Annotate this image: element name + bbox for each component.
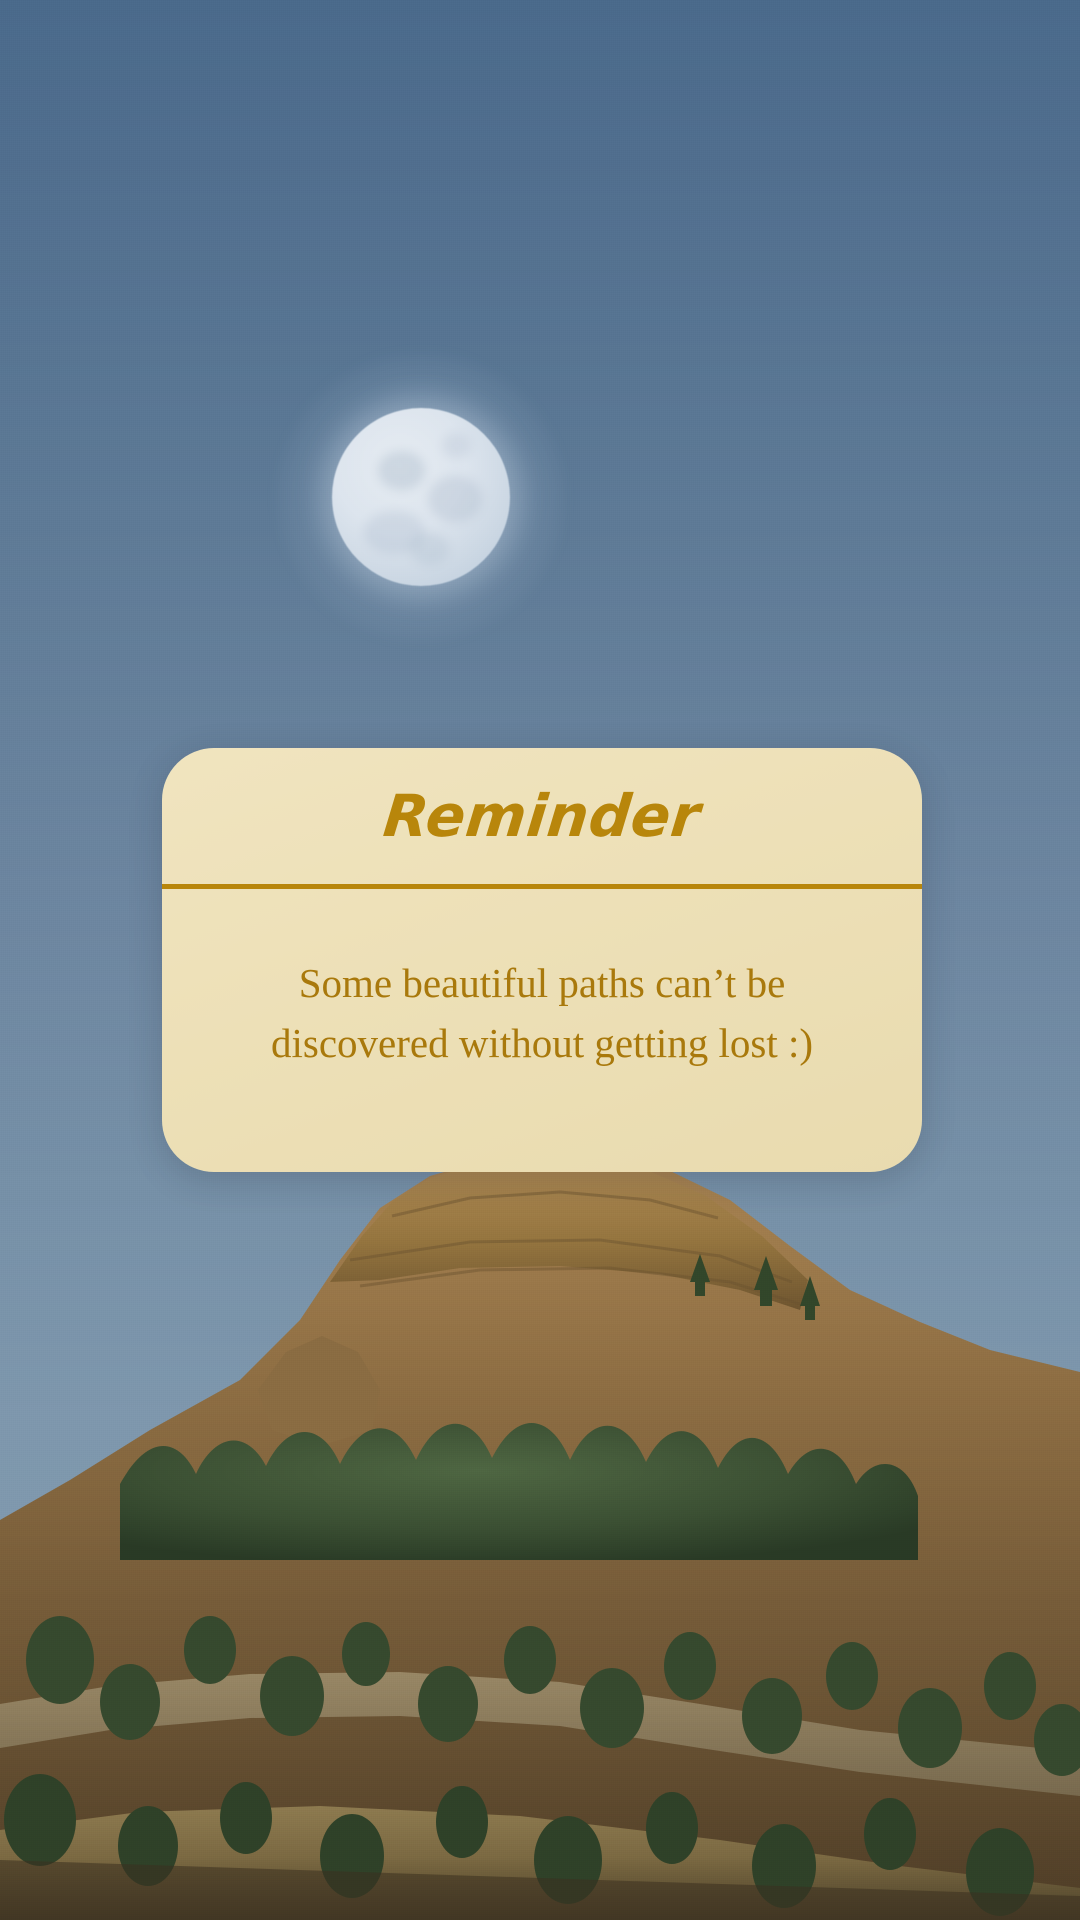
card-title: Reminder [381,787,703,845]
card-body: Some beautiful paths can’t be discovered… [162,889,922,1172]
card-header: Reminder [162,748,922,884]
reminder-card[interactable]: Reminder Some beautiful paths can’t be d… [162,748,922,1172]
moon-crater [410,533,449,565]
moon-disc [332,408,510,586]
poster-canvas: Reminder Some beautiful paths can’t be d… [0,0,1080,1920]
moon-crater [428,476,481,522]
moon-crater [378,451,424,490]
card-message: Some beautiful paths can’t be discovered… [262,954,822,1073]
moon-crater [442,433,470,458]
moon [332,408,510,586]
